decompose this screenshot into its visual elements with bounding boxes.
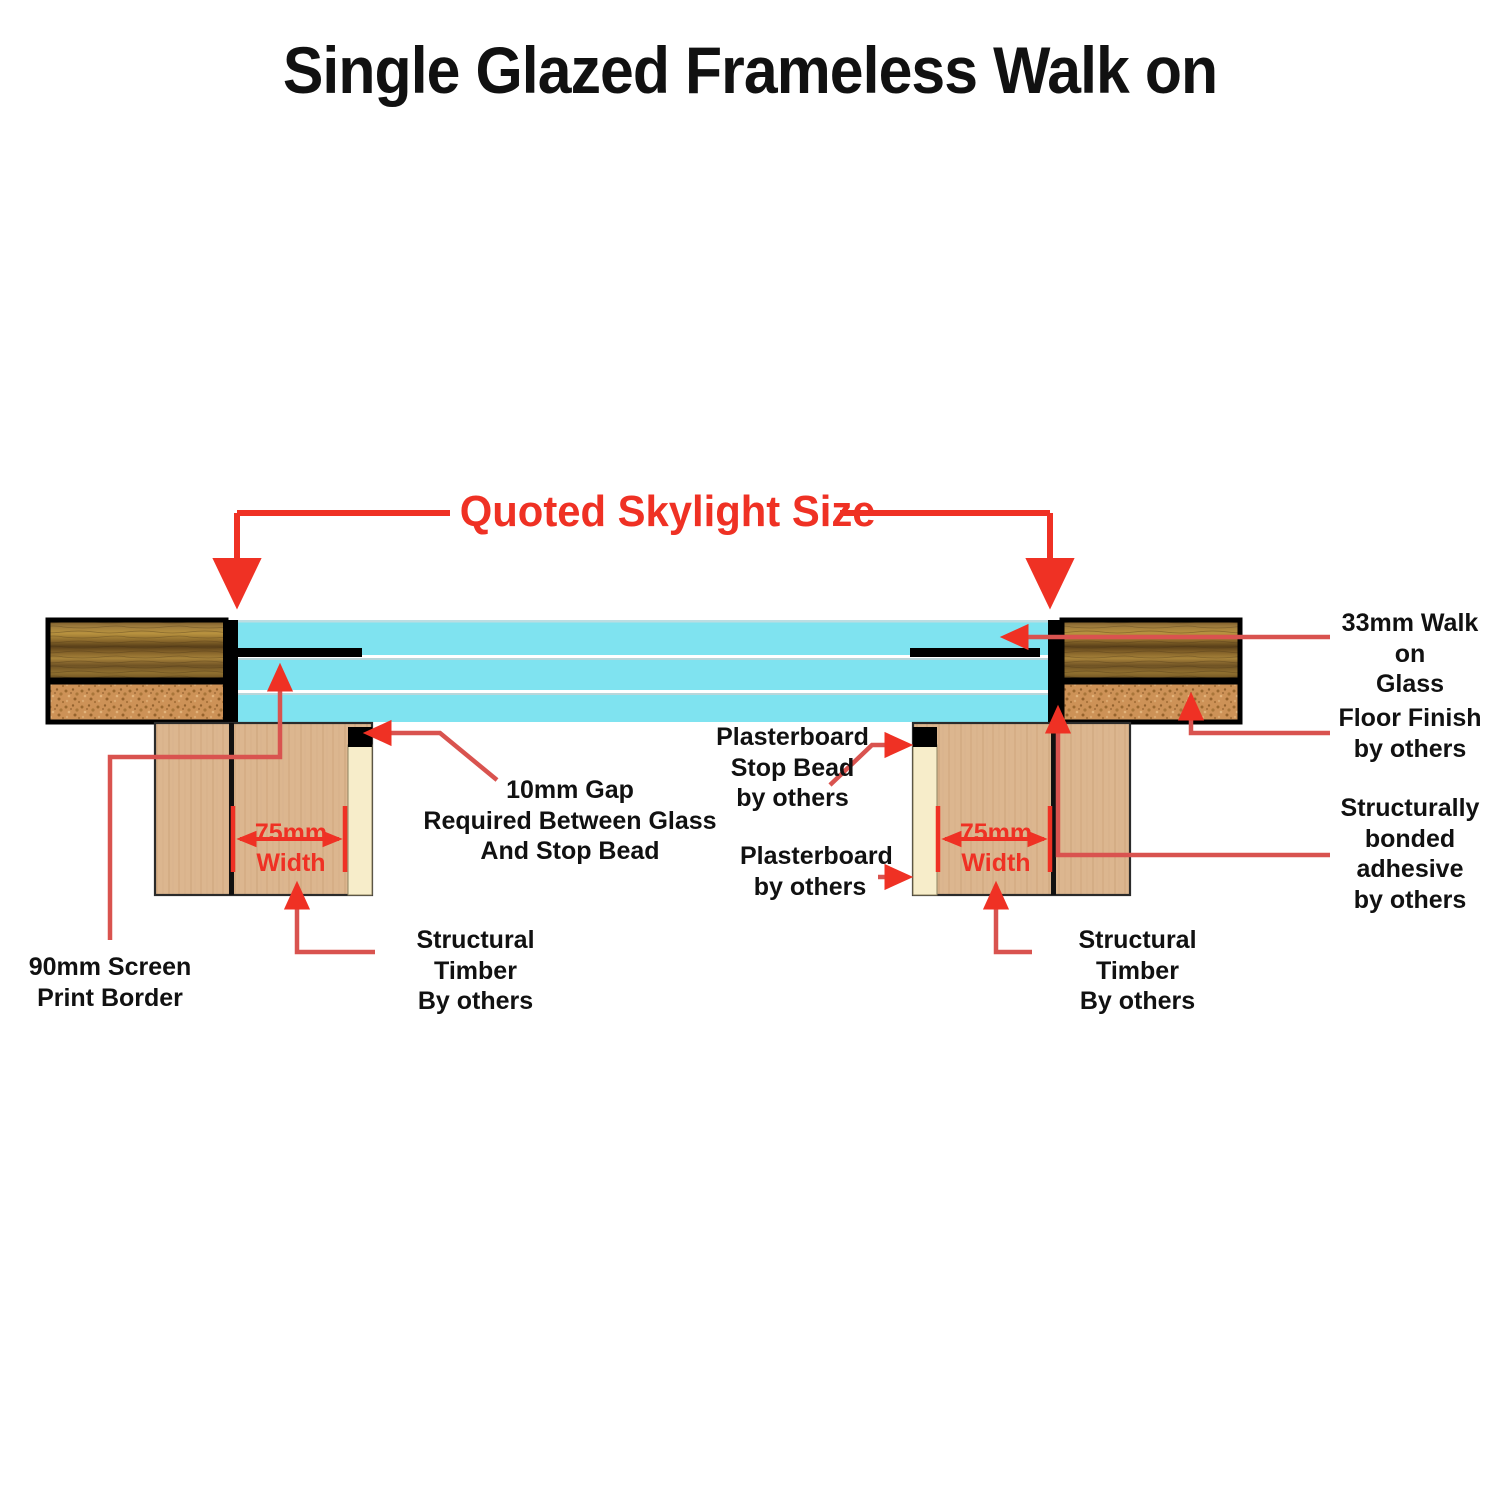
- label-structural-timber-right: Structural Timber By others: [1040, 925, 1235, 1017]
- label-90mm-screen-print-border: 90mm Screen Print Border: [25, 952, 195, 1013]
- dimension-label-left-75mm: 75mm Width: [236, 818, 346, 878]
- label-plasterboard: Plasterboard by others: [740, 841, 880, 902]
- leader-gap-stop-bead: [368, 733, 497, 780]
- floor-finish-left: [48, 620, 226, 722]
- label-33mm-walk-on-glass: 33mm Walk on Glass: [1326, 608, 1494, 700]
- quoted-skylight-size-label: Quoted Skylight Size: [460, 490, 831, 534]
- diagram-canvas: Single Glazed Frameless Walk on: [0, 0, 1500, 1500]
- label-structurally-bonded-adhesive: Structurally bonded adhesive by others: [1326, 793, 1494, 915]
- label-10mm-gap: 10mm Gap Required Between Glass And Stop…: [420, 775, 720, 867]
- dimension-label-right-75mm: 75mm Width: [941, 818, 1051, 878]
- walk-on-glass-panel: [232, 620, 1054, 722]
- label-structural-timber-left: Structural Timber By others: [378, 925, 573, 1017]
- label-floor-finish: Floor Finish by others: [1326, 703, 1494, 764]
- label-plasterboard-stop-bead: Plasterboard Stop Bead by others: [710, 722, 875, 814]
